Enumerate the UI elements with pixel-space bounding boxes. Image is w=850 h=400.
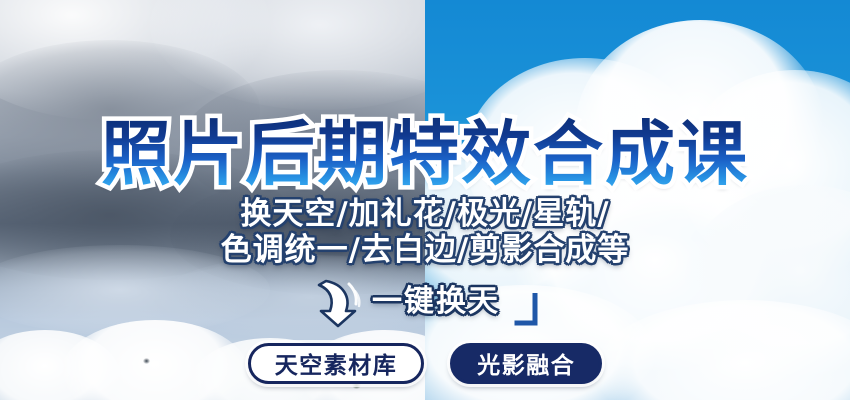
subtitle-group: 换天空/加礼花/极光/星轨/ 色调统一/去白边/剪影合成等	[0, 196, 850, 268]
text-overlay: 照片后期特效合成课 照片后期特效合成课 换天空/加礼花/极光/星轨/ 色调统一/…	[0, 0, 850, 400]
subtitle-line-2: 色调统一/去白边/剪影合成等	[0, 232, 850, 268]
feature-badge-group: 天空素材库 光影融合	[0, 341, 850, 385]
curved-down-arrow-icon	[310, 275, 364, 329]
corner-bracket-icon	[514, 293, 540, 327]
course-promo-banner: 照片后期特效合成课 照片后期特效合成课 换天空/加礼花/极光/星轨/ 色调统一/…	[0, 0, 850, 400]
one-key-label: 一键换天	[372, 283, 500, 321]
badge-light-shadow-blend[interactable]: 光影融合	[450, 343, 602, 384]
badge-sky-asset-library[interactable]: 天空素材库	[248, 343, 425, 384]
one-key-feature-row: 一键换天	[0, 274, 850, 330]
subtitle-line-1: 换天空/加礼花/极光/星轨/	[0, 196, 850, 232]
page-title: 照片后期特效合成课	[0, 116, 850, 192]
